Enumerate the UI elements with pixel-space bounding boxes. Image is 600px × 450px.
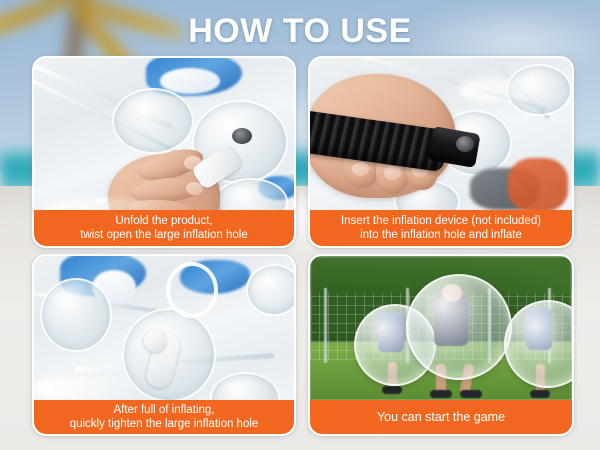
step-1-caption: Unfold the product, twist open the large… bbox=[34, 210, 294, 246]
step-2-photo bbox=[310, 58, 572, 210]
surface-sheen bbox=[34, 376, 144, 400]
surface-sheen bbox=[44, 198, 164, 210]
caption-line: quickly tighten the large inflation hole bbox=[70, 417, 259, 431]
surface-sheen bbox=[460, 78, 556, 102]
valve-ring-left bbox=[40, 278, 112, 352]
caption-line: Unfold the product, bbox=[115, 214, 212, 228]
step-4-photo bbox=[310, 256, 572, 400]
background-blur-orange bbox=[508, 158, 568, 210]
valve-ring-right bbox=[246, 264, 294, 316]
player-shoe bbox=[530, 390, 550, 398]
caption-line: After full of inflating, bbox=[114, 403, 215, 417]
player-shoe bbox=[430, 390, 452, 398]
step-1-photo bbox=[34, 58, 294, 210]
page-title: HOW TO USE bbox=[0, 12, 600, 51]
caption-line: twist open the large inflation hole bbox=[80, 228, 248, 242]
caption-line: into the inflation hole and inflate bbox=[360, 228, 522, 242]
fingernail bbox=[352, 162, 369, 176]
step-3-caption: After full of inflating, quickly tighten… bbox=[34, 400, 294, 434]
fence-post bbox=[324, 288, 327, 363]
step-4-caption: You can start the game bbox=[310, 400, 572, 434]
step-card-2: Insert the inflation device (not include… bbox=[308, 56, 574, 248]
inflation-hole bbox=[232, 128, 252, 144]
step-card-1: Unfold the product, twist open the large… bbox=[32, 56, 296, 248]
step-2-caption: Insert the inflation device (not include… bbox=[310, 210, 572, 246]
valve-ring-left bbox=[112, 88, 194, 154]
step-3-photo bbox=[34, 256, 294, 400]
caption-line: You can start the game bbox=[377, 410, 505, 424]
caption-line: Insert the inflation device (not include… bbox=[341, 214, 541, 228]
valve-cap-head bbox=[144, 330, 166, 352]
player-shoe bbox=[460, 390, 482, 398]
nozzle-tip-hole bbox=[456, 136, 474, 152]
player-shoe bbox=[382, 386, 402, 394]
bubble-ball-center bbox=[406, 274, 512, 380]
how-to-use-infographic: HOW TO USE Unfold the product, tw bbox=[0, 0, 600, 450]
fingernail bbox=[384, 166, 401, 180]
step-card-4: You can start the game bbox=[308, 254, 574, 436]
step-card-3: After full of inflating, quickly tighten… bbox=[32, 254, 296, 436]
cap-tether-ring bbox=[166, 262, 218, 318]
